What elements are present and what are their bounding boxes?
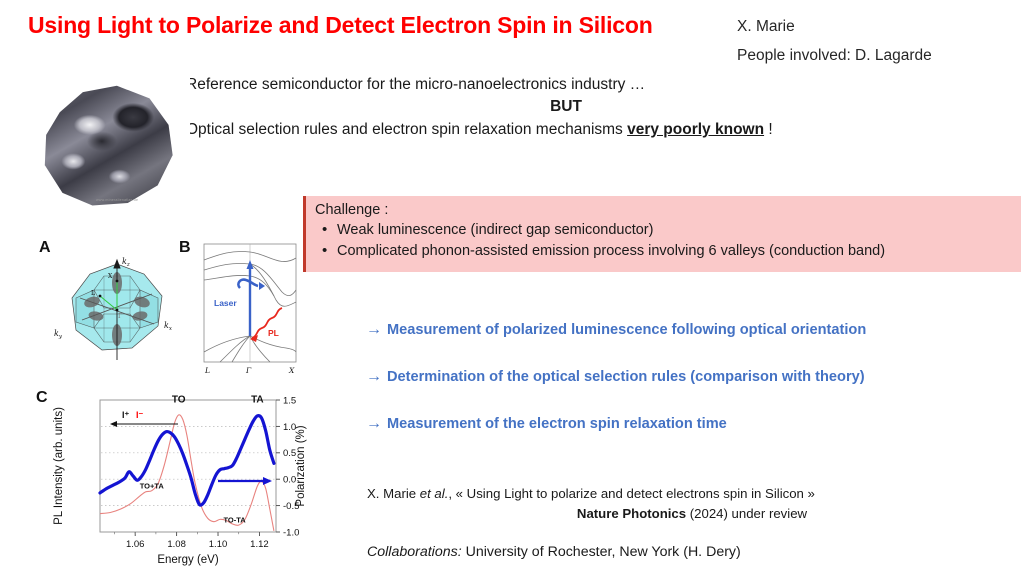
page-title: Using Light to Polarize and Detect Elect…	[28, 12, 718, 38]
x-tick-label-0: 1.06	[126, 539, 145, 550]
chart-x-ticks: 1.061.081.101.12	[114, 532, 268, 550]
band-axis-labels: L Γ X	[204, 366, 295, 375]
gamma-point	[116, 309, 119, 312]
objective-label-2: Measurement of the electron spin relaxat…	[387, 416, 727, 432]
intro-text: Reference semiconductor for the micro-na…	[186, 74, 946, 141]
collaborations-label: Collaborations:	[367, 544, 462, 560]
figure-brillouin-zone: kz ky kx X L Γ	[52, 250, 182, 372]
silicon-crystal-photo: www.mineralienatlas.de	[22, 72, 190, 220]
journal-status: (2024) under review	[686, 506, 807, 521]
label-L: L	[204, 366, 210, 375]
figure-band-structure: Laser PL L Γ X	[196, 240, 302, 380]
objective-item-2: →Measurement of the electron spin relaxa…	[366, 415, 727, 433]
challenge-bullet-list: Weak luminescence (indirect gap semicond…	[315, 220, 1021, 263]
collaborations-line: Collaborations: University of Rochester,…	[367, 542, 1007, 563]
chart-annotation-to-ta: TO-TA	[223, 515, 246, 524]
label-x-point: X	[108, 273, 113, 280]
objective-label-1: Determination of the optical selection r…	[387, 369, 865, 385]
panel-letter-c: C	[36, 389, 48, 407]
journal-name: Nature Photonics	[577, 506, 686, 521]
l-point	[99, 295, 102, 298]
x-tick-label-1: 1.08	[167, 539, 186, 550]
legend-label-i-minus: I⁻	[136, 410, 144, 420]
intro-line-but: BUT	[186, 96, 946, 118]
challenge-bullet-1: Complicated phonon-assisted emission pro…	[315, 241, 1021, 262]
challenge-bullet-0: Weak luminescence (indirect gap semicond…	[315, 220, 1021, 241]
arrow-right-icon: →	[366, 415, 382, 432]
intro-emphasis: very poorly known	[627, 121, 764, 138]
objective-item-0: →Measurement of polarized luminescence f…	[366, 321, 866, 339]
x-tick-label-2: 1.10	[209, 539, 228, 550]
intro-line-3-pre: Optical selection rules and electron spi…	[186, 121, 627, 138]
collaborations-text: University of Rochester, New York (H. De…	[462, 544, 741, 560]
chart-y-axis-label: PL Intensity (arb. units)	[53, 407, 65, 525]
laser-label: Laser	[214, 298, 237, 308]
y2-tick-label-0: -1.0	[283, 527, 299, 538]
arrow-right-icon: →	[366, 368, 382, 385]
label-Gamma: Γ	[245, 366, 252, 375]
photo-credit: www.mineralienatlas.de	[96, 198, 138, 202]
reference-pre: X. Marie	[367, 486, 420, 501]
intro-line-3-post: !	[764, 121, 773, 138]
x-tick-label-3: 1.12	[250, 539, 269, 550]
chart-y2-axis-label: Polarization (%)	[295, 425, 307, 506]
chart-annotation-to: TO	[172, 395, 186, 406]
chart-annotation-ta: TA	[251, 395, 264, 406]
label-gamma-point: Γ	[118, 313, 122, 320]
crystal-rock-image	[38, 82, 174, 208]
objective-item-1: →Determination of the optical selection …	[366, 368, 865, 386]
reference-etal: et al.	[420, 486, 449, 501]
author-name: X. Marie	[737, 18, 795, 36]
legend-label-i-plus: I⁺	[122, 410, 130, 420]
label-ky: ky	[54, 329, 63, 340]
challenge-heading: Challenge :	[315, 202, 1021, 218]
reference-journal-line: Nature Photonics (2024) under review	[367, 504, 1007, 524]
reference-post: , « Using Light to polarize and detect e…	[448, 486, 815, 501]
people-involved: People involved: D. Lagarde	[737, 47, 932, 65]
intro-line-3: Optical selection rules and electron spi…	[186, 119, 946, 141]
challenge-box: Challenge : Weak luminescence (indirect …	[303, 196, 1021, 272]
arrow-right-icon: →	[366, 321, 382, 338]
y2-tick-label-5: 1.5	[283, 395, 296, 406]
reference-citation: X. Marie et al., « Using Light to polari…	[367, 484, 1007, 504]
intro-line-1: Reference semiconductor for the micro-na…	[186, 74, 946, 96]
panel-letter-a: A	[39, 239, 51, 257]
chart-x-axis-label: Energy (eV)	[157, 554, 219, 566]
label-X: X	[288, 366, 295, 375]
reference-block: X. Marie et al., « Using Light to polari…	[367, 484, 1007, 563]
chart-annotation-to-ta: TO+TA	[140, 482, 165, 491]
figure-pl-polarization-chart: 1.061.081.101.12 -1.0-0.50.00.51.01.5 TO…	[48, 392, 316, 567]
objective-label-0: Measurement of polarized luminescence fo…	[387, 322, 866, 338]
label-l-point: L	[91, 290, 95, 297]
x-point	[116, 280, 119, 283]
label-kx: kx	[164, 321, 173, 332]
kz-arrow-head	[114, 260, 120, 268]
pl-label: PL	[268, 328, 279, 338]
